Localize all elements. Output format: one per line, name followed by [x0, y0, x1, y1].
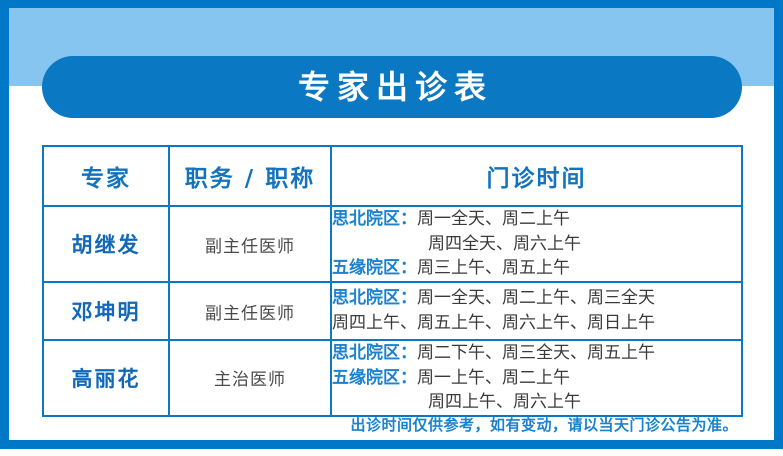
campus-days: 周二下午、周三全天、周五上午: [417, 343, 655, 363]
column-header-title: 职务 / 职称: [169, 146, 331, 206]
table-row: 高丽花 主治医师 思北院区：周二下午、周三全天、周五上午 五缘院区：周一上午、周…: [43, 340, 742, 416]
table-body: 胡继发 副主任医师 思北院区：周一全天、周二上午 周四全天、周六上午 五缘院区：…: [43, 206, 742, 416]
table-row: 邓坤明 副主任医师 思北院区：周一全天、周二上午、周三全天 周四上午、周五上午、…: [43, 282, 742, 340]
table-header-row: 专家 职务 / 职称 门诊时间: [43, 146, 742, 206]
frame-top-border: [0, 0, 783, 8]
expert-title: 副主任医师: [169, 282, 331, 340]
clinic-hours-line: 周四上午、周六上午: [332, 390, 741, 415]
clinic-hours-line: 思北院区：周二下午、周三全天、周五上午: [332, 341, 741, 366]
column-header-expert: 专家: [43, 146, 169, 206]
column-header-hours: 门诊时间: [331, 146, 742, 206]
clinic-hours-line: 周四上午、周五上午、周六上午、周日上午: [332, 311, 741, 336]
expert-name: 邓坤明: [43, 282, 169, 340]
campus-days: 周四上午、周六上午: [428, 392, 581, 412]
campus-days: 周三上午、周五上午: [417, 258, 570, 278]
campus-days: 周一全天、周二上午: [417, 209, 570, 229]
campus-label: 思北院区：: [332, 343, 417, 363]
campus-days: 周四全天、周六上午: [428, 234, 581, 254]
page-title: 专家出诊表: [291, 71, 493, 103]
clinic-hours: 思北院区：周二下午、周三全天、周五上午 五缘院区：周一上午、周二上午 周四上午、…: [331, 340, 742, 416]
expert-schedule-table: 专家 职务 / 职称 门诊时间 胡继发 副主任医师 思北院区：周一全天、周二上午…: [42, 145, 743, 417]
expert-name: 胡继发: [43, 206, 169, 282]
expert-title: 副主任医师: [169, 206, 331, 282]
campus-days: 周一上午、周二上午: [417, 368, 570, 388]
expert-name: 高丽花: [43, 340, 169, 416]
expert-title: 主治医师: [169, 340, 331, 416]
clinic-hours-line: 五缘院区：周三上午、周五上午: [332, 256, 741, 281]
clinic-hours-line: 思北院区：周一全天、周二上午、周三全天: [332, 286, 741, 311]
campus-label: 五缘院区：: [332, 258, 417, 278]
disclaimer-note: 出诊时间仅供参考，如有变动，请以当天门诊公告为准。: [350, 414, 738, 435]
campus-label: 五缘院区：: [332, 368, 417, 388]
campus-days: 周一全天、周二上午、周三全天: [417, 288, 655, 308]
campus-label: 思北院区：: [332, 288, 417, 308]
title-banner: 专家出诊表: [42, 56, 742, 118]
clinic-hours-line: 思北院区：周一全天、周二上午: [332, 207, 741, 232]
clinic-hours-line: 周四全天、周六上午: [332, 232, 741, 257]
frame-bottom-border: [0, 440, 783, 449]
frame-right-border: [774, 0, 783, 448]
table-row: 胡继发 副主任医师 思北院区：周一全天、周二上午 周四全天、周六上午 五缘院区：…: [43, 206, 742, 282]
frame-left-border: [0, 0, 9, 448]
clinic-hours-line: 五缘院区：周一上午、周二上午: [332, 366, 741, 391]
clinic-hours: 思北院区：周一全天、周二上午、周三全天 周四上午、周五上午、周六上午、周日上午: [331, 282, 742, 340]
campus-label: 思北院区：: [332, 209, 417, 229]
clinic-hours: 思北院区：周一全天、周二上午 周四全天、周六上午 五缘院区：周三上午、周五上午: [331, 206, 742, 282]
campus-days: 周四上午、周五上午、周六上午、周日上午: [332, 313, 655, 333]
